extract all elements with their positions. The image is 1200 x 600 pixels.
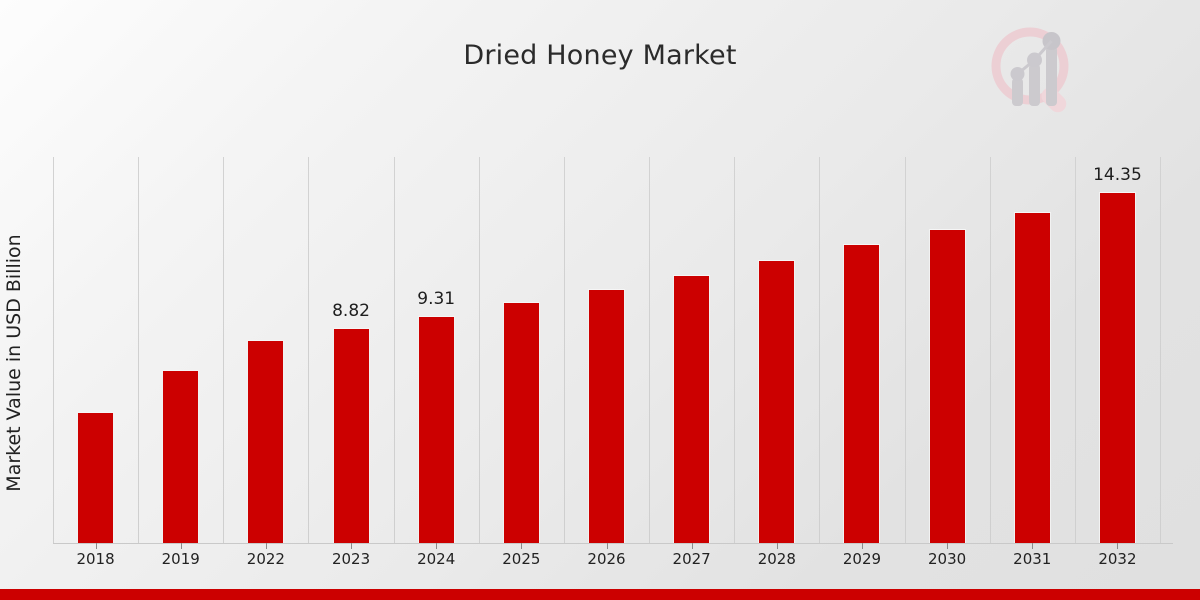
x-tick-label-2027: 2027 <box>673 550 711 568</box>
bar-2031[interactable] <box>1014 212 1051 543</box>
x-tick-label-2018: 2018 <box>76 550 114 568</box>
bar-2026[interactable] <box>588 289 625 543</box>
x-axis-line <box>53 543 1173 544</box>
bar-2019[interactable] <box>162 370 199 543</box>
bar-chart-icon <box>1011 32 1061 106</box>
x-tick-2024 <box>436 543 437 549</box>
bar-2029[interactable] <box>843 244 880 543</box>
gridline <box>1075 157 1076 543</box>
x-tick-label-2029: 2029 <box>843 550 881 568</box>
x-tick-label-2025: 2025 <box>502 550 540 568</box>
gridline <box>479 157 480 543</box>
gridline <box>734 157 735 543</box>
chart-canvas: Dried Honey Market Market Value in USD B… <box>0 0 1200 600</box>
x-tick-2031 <box>1032 543 1033 549</box>
x-tick-2028 <box>777 543 778 549</box>
x-tick-2030 <box>947 543 948 549</box>
bar-2022[interactable] <box>247 340 284 543</box>
x-tick-2026 <box>607 543 608 549</box>
x-tick-label-2028: 2028 <box>758 550 796 568</box>
x-tick-2022 <box>266 543 267 549</box>
gridline <box>308 157 309 543</box>
bar-2025[interactable] <box>503 302 540 543</box>
footer-accent-strip <box>0 589 1200 600</box>
y-axis-label: Market Value in USD Billion <box>3 163 25 563</box>
x-tick-label-2019: 2019 <box>162 550 200 568</box>
x-tick-label-2031: 2031 <box>1013 550 1051 568</box>
gridline <box>223 157 224 543</box>
plot-area <box>53 157 1160 543</box>
x-tick-label-2022: 2022 <box>247 550 285 568</box>
bar-2030[interactable] <box>929 229 966 543</box>
x-tick-label-2026: 2026 <box>587 550 625 568</box>
x-tick-2023 <box>351 543 352 549</box>
gridline <box>649 157 650 543</box>
x-tick-label-2032: 2032 <box>1098 550 1136 568</box>
x-tick-label-2024: 2024 <box>417 550 455 568</box>
x-tick-label-2030: 2030 <box>928 550 966 568</box>
x-tick-2027 <box>692 543 693 549</box>
bar-value-label-2024: 9.31 <box>417 289 455 309</box>
bar-2027[interactable] <box>673 275 710 543</box>
gridline <box>1160 157 1161 543</box>
bar-2024[interactable] <box>418 316 455 543</box>
gridline <box>819 157 820 543</box>
x-tick-2018 <box>96 543 97 549</box>
bar-2023[interactable] <box>333 328 370 543</box>
x-tick-2032 <box>1117 543 1118 549</box>
bar-2028[interactable] <box>758 260 795 543</box>
bar-value-label-2023: 8.82 <box>332 301 370 321</box>
gridline <box>905 157 906 543</box>
gridline <box>990 157 991 543</box>
gridline <box>138 157 139 543</box>
brand-logo <box>978 22 1088 122</box>
x-tick-2029 <box>862 543 863 549</box>
x-tick-2025 <box>521 543 522 549</box>
gridline <box>564 157 565 543</box>
x-tick-label-2023: 2023 <box>332 550 370 568</box>
gridline <box>53 157 54 543</box>
x-tick-2019 <box>181 543 182 549</box>
gridline <box>394 157 395 543</box>
bar-2032[interactable] <box>1099 192 1136 543</box>
bar-2018[interactable] <box>77 412 114 543</box>
bar-value-label-2032: 14.35 <box>1093 165 1142 185</box>
